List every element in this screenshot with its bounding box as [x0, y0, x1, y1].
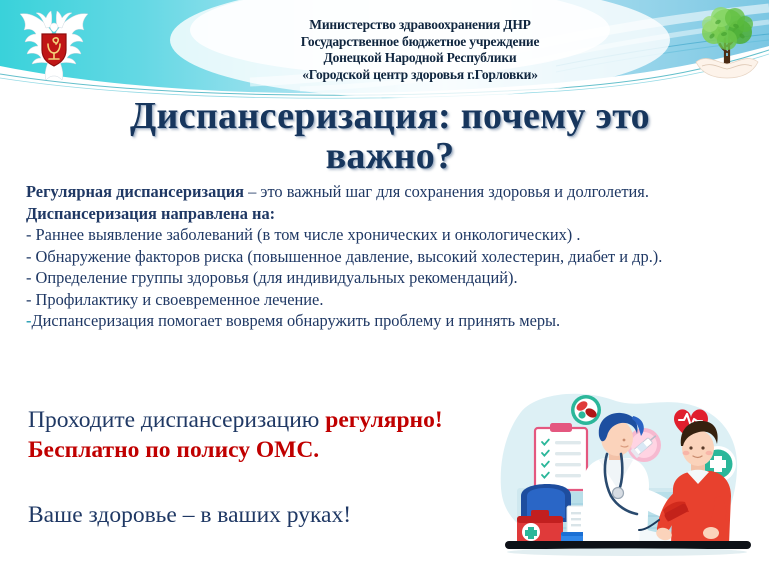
- pills-circle-icon: [571, 395, 601, 425]
- poster-title: Диспансеризация: почему это важно?: [40, 96, 740, 176]
- body-content: Регулярная диспансеризация – это важный …: [26, 182, 744, 333]
- doctor-patient-illustration: [487, 392, 767, 560]
- call-to-action: Проходите диспансеризацию регулярно! Бес…: [28, 405, 498, 465]
- intro-paragraph: Регулярная диспансеризация – это важный …: [26, 182, 744, 203]
- org-line-2: Государственное бюджетное учреждение: [210, 34, 630, 51]
- title-line-1: Диспансеризация: почему это: [40, 96, 740, 136]
- bullet-item: - Раннее выявление заболеваний (в том чи…: [26, 225, 744, 246]
- intro-bold-phrase: Регулярная диспансеризация: [26, 182, 244, 201]
- org-line-4: «Городской центр здоровья г.Горловки»: [210, 67, 630, 84]
- cta-line1-accent: регулярно!: [325, 407, 442, 433]
- bullet-item: - Определение группы здоровья (для индив…: [26, 268, 744, 289]
- bullet-item: - Обнаружение факторов риска (повышенное…: [26, 247, 744, 268]
- dnr-eagle-emblem-icon: [12, 6, 96, 84]
- header-band: Министерство здравоохранения ДНР Государ…: [0, 0, 769, 100]
- desk-bar: [505, 541, 751, 549]
- closing-statement: Ваше здоровье – в ваших руках!: [28, 500, 498, 530]
- cta-line-2: Бесплатно по полису ОМС.: [28, 435, 498, 465]
- bullet-item-highlight: -Диспансеризация помогает вовремя обнару…: [26, 311, 744, 332]
- org-line-3: Донецкой Народной Республики: [210, 50, 630, 67]
- illustration-svg: [487, 392, 767, 560]
- org-line-1: Министерство здравоохранения ДНР: [210, 17, 630, 34]
- bullet-last-text: Диспансеризация помогает вовремя обнаруж…: [31, 311, 560, 330]
- cta-line-1: Проходите диспансеризацию регулярно!: [28, 405, 498, 435]
- green-tree-logo-icon: [690, 4, 764, 84]
- clipboard-checklist-icon: [535, 423, 587, 490]
- ground-shadow: [507, 548, 747, 556]
- cta-line1-plain: Проходите диспансеризацию: [28, 407, 325, 433]
- poster-root: Министерство здравоохранения ДНР Государ…: [0, 0, 769, 569]
- intro-rest-phrase: – это важный шаг для сохранения здоровья…: [244, 182, 649, 201]
- organization-name: Министерство здравоохранения ДНР Государ…: [210, 17, 630, 83]
- body-subheading: Диспансеризация направлена на:: [26, 204, 744, 225]
- title-line-2: важно?: [40, 136, 740, 176]
- bullet-item: - Профилактику и своевременное лечение.: [26, 290, 744, 311]
